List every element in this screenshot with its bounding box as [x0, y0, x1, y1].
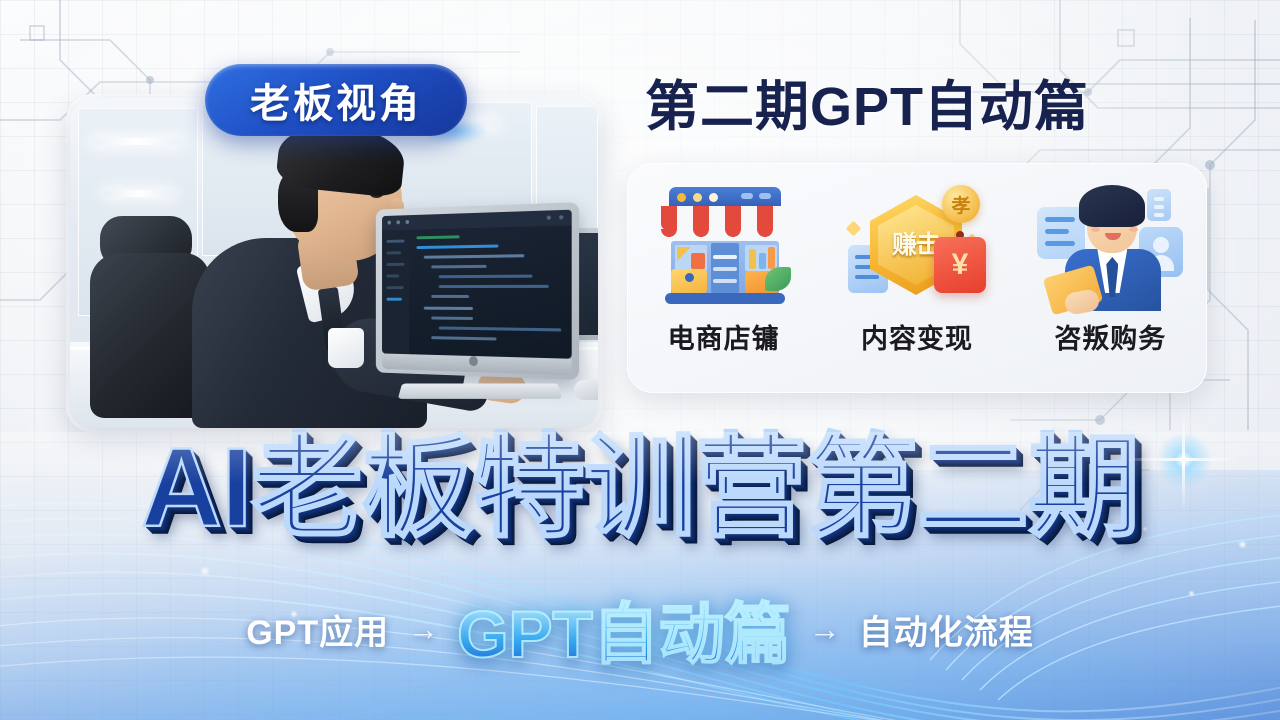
feature-label: 电商店镛	[668, 317, 780, 356]
arrow-right-icon: →	[407, 611, 439, 648]
bottom-tagline-row: GPT应用 → GPT自动篇 → 自动化流程	[0, 594, 1280, 664]
feature-item-monetization[interactable]: 赚击 孝 ¥ 内容变现	[829, 179, 1005, 356]
main-title: AI老板特训营第二期	[0, 432, 1280, 544]
code-editor-screen	[382, 210, 572, 359]
shop-goods	[749, 249, 756, 269]
shop-goods	[691, 253, 705, 269]
section-heading: 第二期GPT自动篇	[645, 62, 1089, 141]
shop-signboard	[669, 187, 781, 207]
center-keyword: GPT自动篇	[457, 581, 791, 677]
id-badge-icon	[1147, 189, 1171, 221]
hero-photo	[70, 98, 598, 428]
editor-titlebar	[382, 210, 572, 231]
shop-base	[665, 293, 785, 304]
perspective-badge[interactable]: 老板视角	[205, 64, 467, 136]
shop-goods	[759, 253, 766, 269]
imac-computer	[368, 206, 578, 376]
apple-logo-icon	[469, 356, 478, 366]
imac-body	[376, 202, 579, 380]
feature-item-consulting[interactable]: 咨叛购务	[1022, 179, 1198, 356]
leaf-icon	[765, 267, 791, 291]
consultant-icon	[1035, 179, 1185, 311]
coffee-cup	[328, 328, 364, 368]
shop-goods	[677, 247, 691, 261]
ceiling-light	[92, 138, 182, 145]
feature-label: 咨叛购务	[1054, 317, 1166, 356]
poster-canvas: 老板视角 第二期GPT自动篇	[0, 0, 1280, 720]
feature-label: 内容变现	[861, 317, 973, 356]
consultant-hair	[1079, 185, 1145, 227]
ceiling-light	[104, 190, 174, 197]
gold-coin-icon: 孝	[942, 185, 980, 223]
bag-clasp	[685, 273, 694, 282]
arrow-right-icon: →	[809, 611, 841, 648]
price-tag-icon: ¥	[934, 237, 986, 293]
editor-sidebar	[382, 230, 409, 354]
feature-card: 电商店镛 赚击 孝 ¥ 内容变现	[627, 163, 1207, 393]
mouse	[574, 380, 598, 400]
light-particle	[200, 566, 210, 576]
shop-awning-top	[661, 206, 789, 230]
storefront-icon	[649, 179, 799, 311]
badge-label: 老板视角	[250, 71, 422, 129]
keyboard	[398, 384, 562, 399]
shop-goods	[768, 247, 775, 269]
left-tag: GPT应用	[246, 605, 389, 654]
sparkle-icon	[1156, 432, 1212, 488]
feature-item-ecommerce[interactable]: 电商店镛	[636, 179, 812, 356]
money-badge-icon: 赚击 孝 ¥	[842, 179, 992, 311]
right-tag: 自动化流程	[859, 605, 1034, 654]
